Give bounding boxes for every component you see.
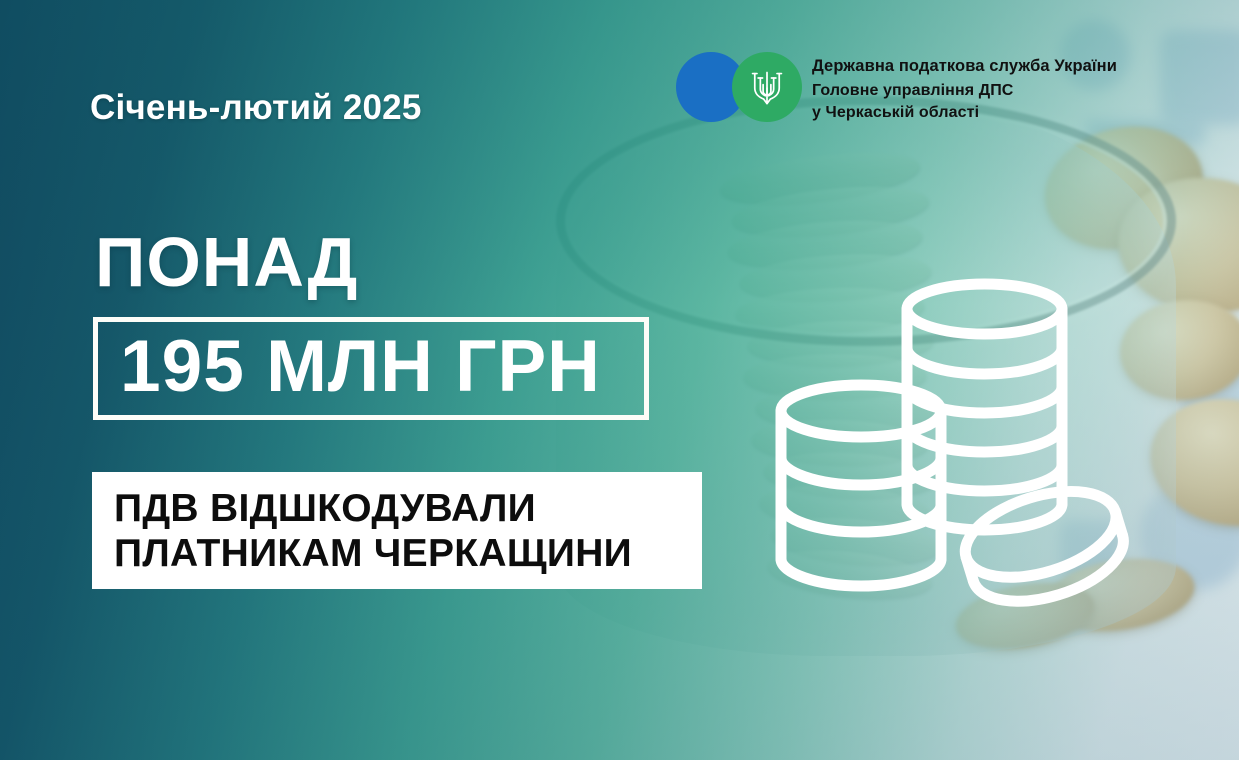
caption-box: ПДВ ВІДШКОДУВАЛИ ПЛАТНИКАМ ЧЕРКАЩИНИ [92, 472, 702, 589]
logo-marks [676, 50, 808, 124]
amount-value: 195 МЛН ГРН [98, 330, 601, 403]
coin-stacks-icon [755, 262, 1175, 612]
logo-line-2: Головне управління ДПС [812, 80, 1117, 102]
amount-box: 195 МЛН ГРН [93, 317, 649, 420]
logo-text-block: Державна податкова служба України Головн… [812, 50, 1117, 124]
logo-line-3: у Черкаській області [812, 102, 1117, 124]
dps-logo: Державна податкова служба України Головн… [676, 50, 1117, 124]
period-label: Січень-лютий 2025 [90, 88, 422, 128]
caption-line-2: ПЛАТНИКАМ ЧЕРКАЩИНИ [114, 531, 702, 576]
logo-line-1: Державна податкова служба України [812, 56, 1117, 76]
poster: Державна податкова служба України Головн… [0, 0, 1239, 760]
caption-line-1: ПДВ ВІДШКОДУВАЛИ [114, 486, 702, 531]
ukraine-trident-icon [750, 68, 784, 108]
headline-prefix: ПОНАД [95, 226, 358, 298]
